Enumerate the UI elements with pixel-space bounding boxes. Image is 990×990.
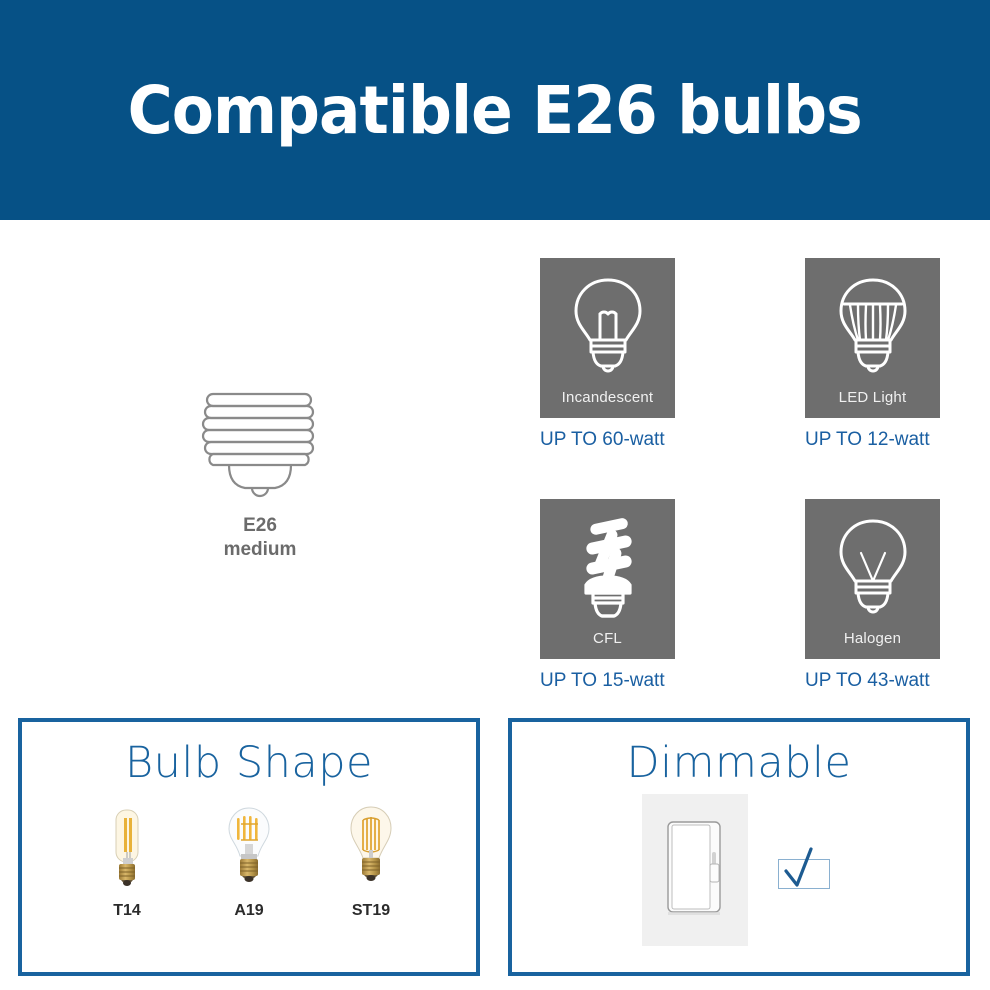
- page-header: Compatible E26 bulbs: [0, 0, 990, 220]
- e26-base-block: E26 medium: [160, 380, 360, 562]
- bulb-shape-a19: A19: [208, 804, 290, 920]
- a19-standard-bulb-icon: [208, 804, 290, 896]
- st19-teardrop-bulb-icon: [330, 804, 412, 896]
- bulb-type-led: LED Light UP TO 12-watt: [805, 258, 985, 451]
- incandescent-bulb-icon: [560, 272, 656, 389]
- checkbox-checked-icon[interactable]: [778, 845, 836, 895]
- bulb-shape-t14: T14: [86, 804, 168, 920]
- bulb-shape-st19: ST19: [330, 804, 412, 920]
- bulb-shape-label: A19: [208, 902, 290, 920]
- bulb-type-card: Incandescent: [540, 258, 675, 418]
- dimmer-switch-photo: [642, 794, 748, 946]
- bulb-type-label: CFL: [540, 630, 675, 647]
- bulb-type-label: Halogen: [805, 630, 940, 647]
- led-bulb-icon: [825, 272, 921, 389]
- bulb-type-card: CFL: [540, 499, 675, 659]
- bulb-shape-label: ST19: [330, 902, 412, 920]
- dimmable-panel: Dimmable: [508, 718, 970, 976]
- dimmable-row: [512, 794, 966, 946]
- grid-spacer: [675, 258, 805, 451]
- dimmable-title: Dimmable: [512, 738, 966, 788]
- e26-screw-base-icon: [160, 380, 360, 500]
- e26-base-label: E26 medium: [160, 514, 360, 562]
- bulb-type-label: LED Light: [805, 389, 940, 406]
- bulb-shape-label: T14: [86, 902, 168, 920]
- page-title: Compatible E26 bulbs: [128, 72, 862, 149]
- halogen-bulb-icon: [825, 513, 921, 630]
- infographic-page: Compatible E26 bulbs E26 medium: [0, 0, 990, 990]
- cfl-spiral-bulb-icon: [560, 513, 656, 630]
- bulb-type-card: LED Light: [805, 258, 940, 418]
- bulb-shape-row: T14: [22, 804, 476, 920]
- bulb-type-label: Incandescent: [540, 389, 675, 406]
- bulb-shape-panel: Bulb Shape: [18, 718, 480, 976]
- t14-tubular-bulb-icon: [86, 804, 168, 896]
- bulb-type-card: Halogen: [805, 499, 940, 659]
- bulb-type-halogen: Halogen UP TO 43-watt: [805, 499, 985, 692]
- grid-spacer: [675, 499, 805, 692]
- bulb-type-wattage: UP TO 43-watt: [805, 670, 985, 692]
- bulb-shape-title: Bulb Shape: [22, 738, 476, 788]
- bulb-type-grid: Incandescent UP TO 60-watt: [540, 258, 940, 692]
- checkmark-icon: [780, 845, 820, 897]
- bulb-type-wattage: UP TO 12-watt: [805, 429, 985, 451]
